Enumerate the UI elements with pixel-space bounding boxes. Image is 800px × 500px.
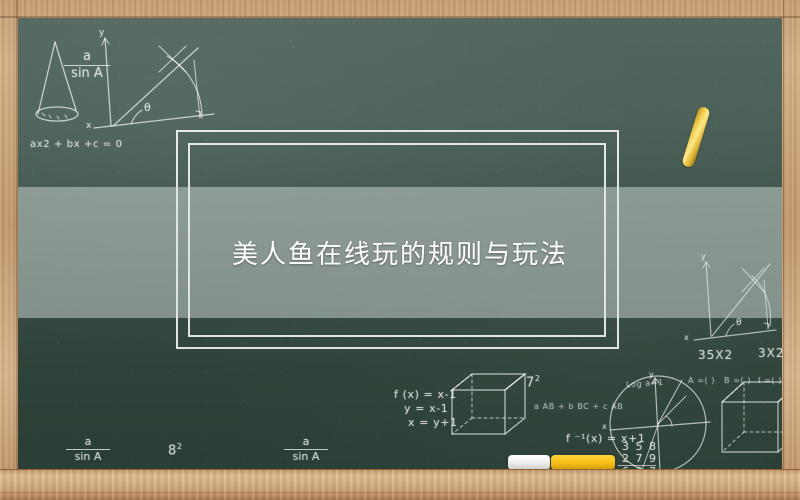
chalk-fraction-a-over-sinA-bottomleft: a sin A — [66, 436, 110, 462]
chalk-function-line-3: x = y+1 — [408, 416, 458, 429]
chalk-angle-label-topleft: θ — [144, 101, 151, 114]
chalk-exponent-seven-base: 7 — [526, 375, 535, 390]
yellow-chalk-piece — [551, 455, 615, 470]
chalk-fraction-a-over-sinA-bottomcenter: a sin A — [284, 436, 328, 462]
chalk-function-line-2: y = x-1 — [404, 402, 448, 415]
chalk-ledge-lip — [0, 492, 800, 494]
chalk-exponent-eight-power: 2 — [177, 442, 183, 451]
chalkboard-surface: a sin A y x θ ax2 + bx +c = 0 y x — [18, 18, 782, 470]
chalk-exponent-eight: 82 — [168, 442, 183, 458]
chalk-subtraction-subtrahend: 2 7 9 — [622, 452, 658, 465]
chalk-axis-label-x-bottomright: x — [602, 422, 607, 431]
chalk-exponent-seven-power: 2 — [535, 374, 541, 383]
chalk-matrix-b: B =( ) — [724, 376, 751, 385]
gold-chalk-stick — [681, 106, 711, 169]
chalkboard-wooden-frame: a sin A y x θ ax2 + bx +c = 0 y x — [0, 0, 800, 500]
chalk-matrix-a: A =( ) — [688, 376, 715, 385]
chalk-axis-label-x-topleft: x — [86, 121, 92, 131]
chalk-ledge — [0, 469, 800, 500]
chalk-matrix-label-3x2: 3X2 — [758, 346, 782, 360]
chalk-axis-label-y-bottomright: y — [649, 370, 654, 379]
chalk-function-line-1: f (x) = x-1 — [394, 388, 457, 401]
chalk-ab-expression: a AB + b BC + c AB — [534, 402, 623, 411]
chalk-quadratic-equation: ax2 + bx +c = 0 — [30, 139, 123, 150]
chalk-exponent-eight-base: 8 — [168, 443, 177, 458]
chalk-axis-label-x-rightupper: x — [684, 333, 689, 342]
chalk-log-note: Log a=1 — [626, 378, 664, 390]
page-title: 美人鱼在线玩的规则与玩法 — [18, 187, 782, 318]
chalk-matrix-label-35x2: 35X2 — [698, 348, 733, 362]
chalk-matrix-c: I =( ) — [758, 376, 782, 385]
chalk-angle-label-rightupper: θ — [736, 318, 742, 328]
chalk-exponent-seven: 72 — [526, 374, 541, 390]
white-chalk-piece — [508, 455, 550, 470]
chalk-axis-label-y-topleft: y — [99, 28, 105, 38]
frame-bevel-right — [783, 0, 785, 500]
chalk-fraction-a-over-sinA-topleft: a sin A — [64, 50, 110, 80]
